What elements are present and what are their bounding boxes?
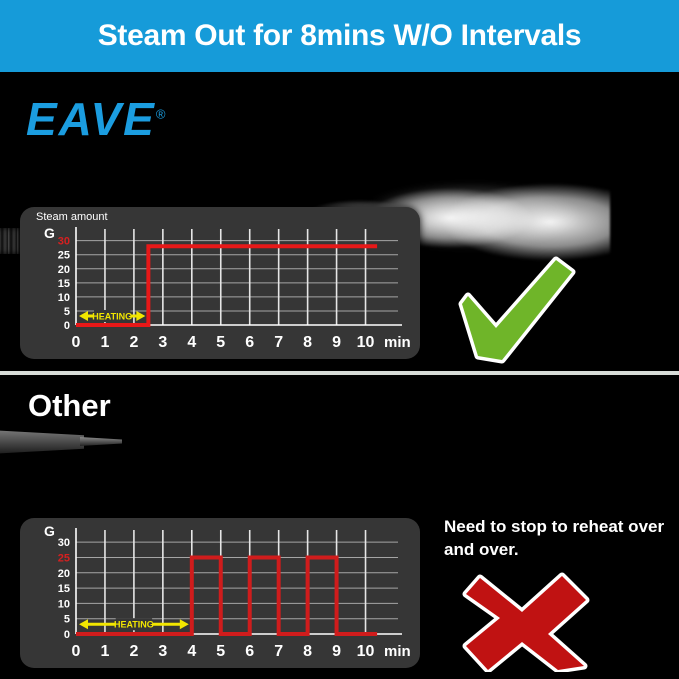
svg-text:0: 0 bbox=[72, 643, 81, 660]
svg-text:30: 30 bbox=[58, 236, 70, 248]
svg-text:7: 7 bbox=[274, 334, 283, 351]
svg-text:2: 2 bbox=[129, 334, 138, 351]
svg-text:6: 6 bbox=[245, 334, 254, 351]
svg-text:15: 15 bbox=[58, 278, 70, 290]
svg-text:20: 20 bbox=[58, 264, 70, 276]
svg-text:2: 2 bbox=[129, 643, 138, 660]
eave-chart-card: Steam amount G 302520151050012345678910m… bbox=[20, 207, 420, 359]
svg-text:10: 10 bbox=[58, 292, 70, 304]
svg-text:25: 25 bbox=[58, 552, 70, 564]
svg-text:15: 15 bbox=[58, 583, 70, 595]
other-chart-plot: 302520151050012345678910minHEATING bbox=[20, 518, 420, 668]
eave-chart-plot: 302520151050012345678910minHEATING bbox=[20, 207, 420, 359]
svg-text:9: 9 bbox=[332, 334, 341, 351]
svg-text:0: 0 bbox=[64, 320, 70, 332]
svg-text:10: 10 bbox=[58, 598, 70, 610]
svg-text:1: 1 bbox=[100, 334, 109, 351]
svg-text:5: 5 bbox=[64, 614, 70, 626]
other-nozzle-image bbox=[0, 424, 158, 470]
svg-text:0: 0 bbox=[72, 334, 81, 351]
svg-text:25: 25 bbox=[58, 250, 70, 262]
brand-name: EAVE bbox=[26, 93, 156, 145]
svg-text:1: 1 bbox=[100, 643, 109, 660]
svg-text:0: 0 bbox=[64, 629, 70, 641]
reheat-note: Need to stop to reheat over and over. bbox=[444, 516, 669, 562]
svg-text:7: 7 bbox=[274, 643, 283, 660]
svg-text:4: 4 bbox=[187, 643, 196, 660]
svg-text:9: 9 bbox=[332, 643, 341, 660]
svg-text:6: 6 bbox=[245, 643, 254, 660]
other-nozzle-tip bbox=[80, 437, 122, 446]
svg-text:5: 5 bbox=[216, 334, 225, 351]
other-chart-card: G 302520151050012345678910minHEATING bbox=[20, 518, 420, 668]
svg-text:5: 5 bbox=[64, 306, 70, 318]
svg-text:3: 3 bbox=[158, 643, 167, 660]
other-nozzle-body bbox=[0, 430, 84, 454]
product-infographic: Steam Out for 8mins W/O Intervals EAVE® … bbox=[0, 0, 679, 679]
svg-text:8: 8 bbox=[303, 643, 312, 660]
other-label: Other bbox=[28, 390, 111, 421]
svg-text:30: 30 bbox=[58, 537, 70, 549]
svg-text:HEATING: HEATING bbox=[92, 312, 132, 322]
svg-text:10: 10 bbox=[357, 643, 375, 660]
svg-text:3: 3 bbox=[158, 334, 167, 351]
svg-text:HEATING: HEATING bbox=[114, 620, 154, 630]
svg-text:5: 5 bbox=[216, 643, 225, 660]
svg-text:10: 10 bbox=[357, 334, 375, 351]
svg-text:4: 4 bbox=[187, 334, 196, 351]
registered-trademark-icon: ® bbox=[156, 107, 168, 122]
svg-text:8: 8 bbox=[303, 334, 312, 351]
svg-text:20: 20 bbox=[58, 568, 70, 580]
page-title: Steam Out for 8mins W/O Intervals bbox=[98, 21, 582, 51]
header-banner: Steam Out for 8mins W/O Intervals bbox=[0, 0, 679, 72]
brand-logo: EAVE® bbox=[26, 96, 167, 142]
svg-text:min: min bbox=[384, 334, 411, 351]
green-check-icon bbox=[452, 252, 582, 367]
red-x-icon bbox=[462, 572, 592, 672]
svg-text:min: min bbox=[384, 643, 411, 660]
